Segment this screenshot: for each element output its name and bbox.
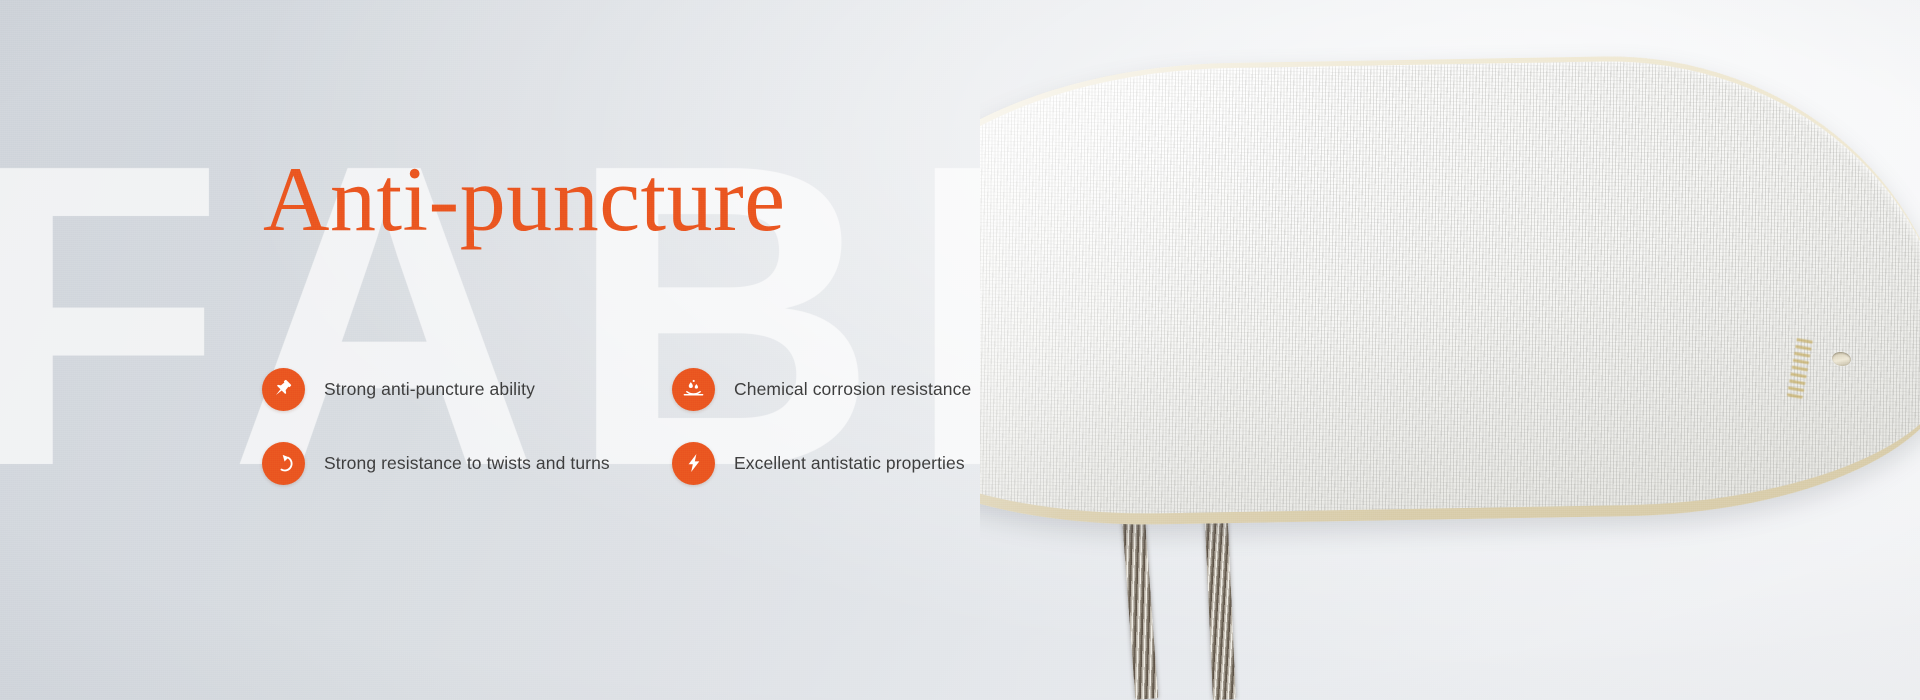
- feature-list: Strong anti-puncture ability Chemical co…: [262, 352, 1012, 500]
- feature-label: Excellent antistatic properties: [734, 453, 965, 474]
- corrosion-drop-icon: [672, 368, 715, 411]
- feature-label: Strong resistance to twists and turns: [324, 453, 610, 474]
- pushpin-icon: [262, 368, 305, 411]
- product-photo: [980, 0, 1920, 700]
- feature-item-anti-puncture[interactable]: Strong anti-puncture ability: [262, 352, 602, 426]
- feature-item-antistatic[interactable]: Excellent antistatic properties: [672, 426, 1012, 500]
- feature-item-twist-resistance[interactable]: Strong resistance to twists and turns: [262, 426, 602, 500]
- lightning-bolt-icon: [672, 442, 715, 485]
- anti-puncture-fabric-insole: [980, 51, 1920, 530]
- rotate-twist-icon: [262, 442, 305, 485]
- feature-label: Chemical corrosion resistance: [734, 379, 971, 400]
- anti-puncture-banner: FABRIC Anti-puncture Strong anti-punctur…: [0, 0, 1920, 700]
- page-title: Anti-puncture: [263, 153, 786, 245]
- feature-item-chemical-corrosion[interactable]: Chemical corrosion resistance: [672, 352, 1012, 426]
- feature-label: Strong anti-puncture ability: [324, 379, 535, 400]
